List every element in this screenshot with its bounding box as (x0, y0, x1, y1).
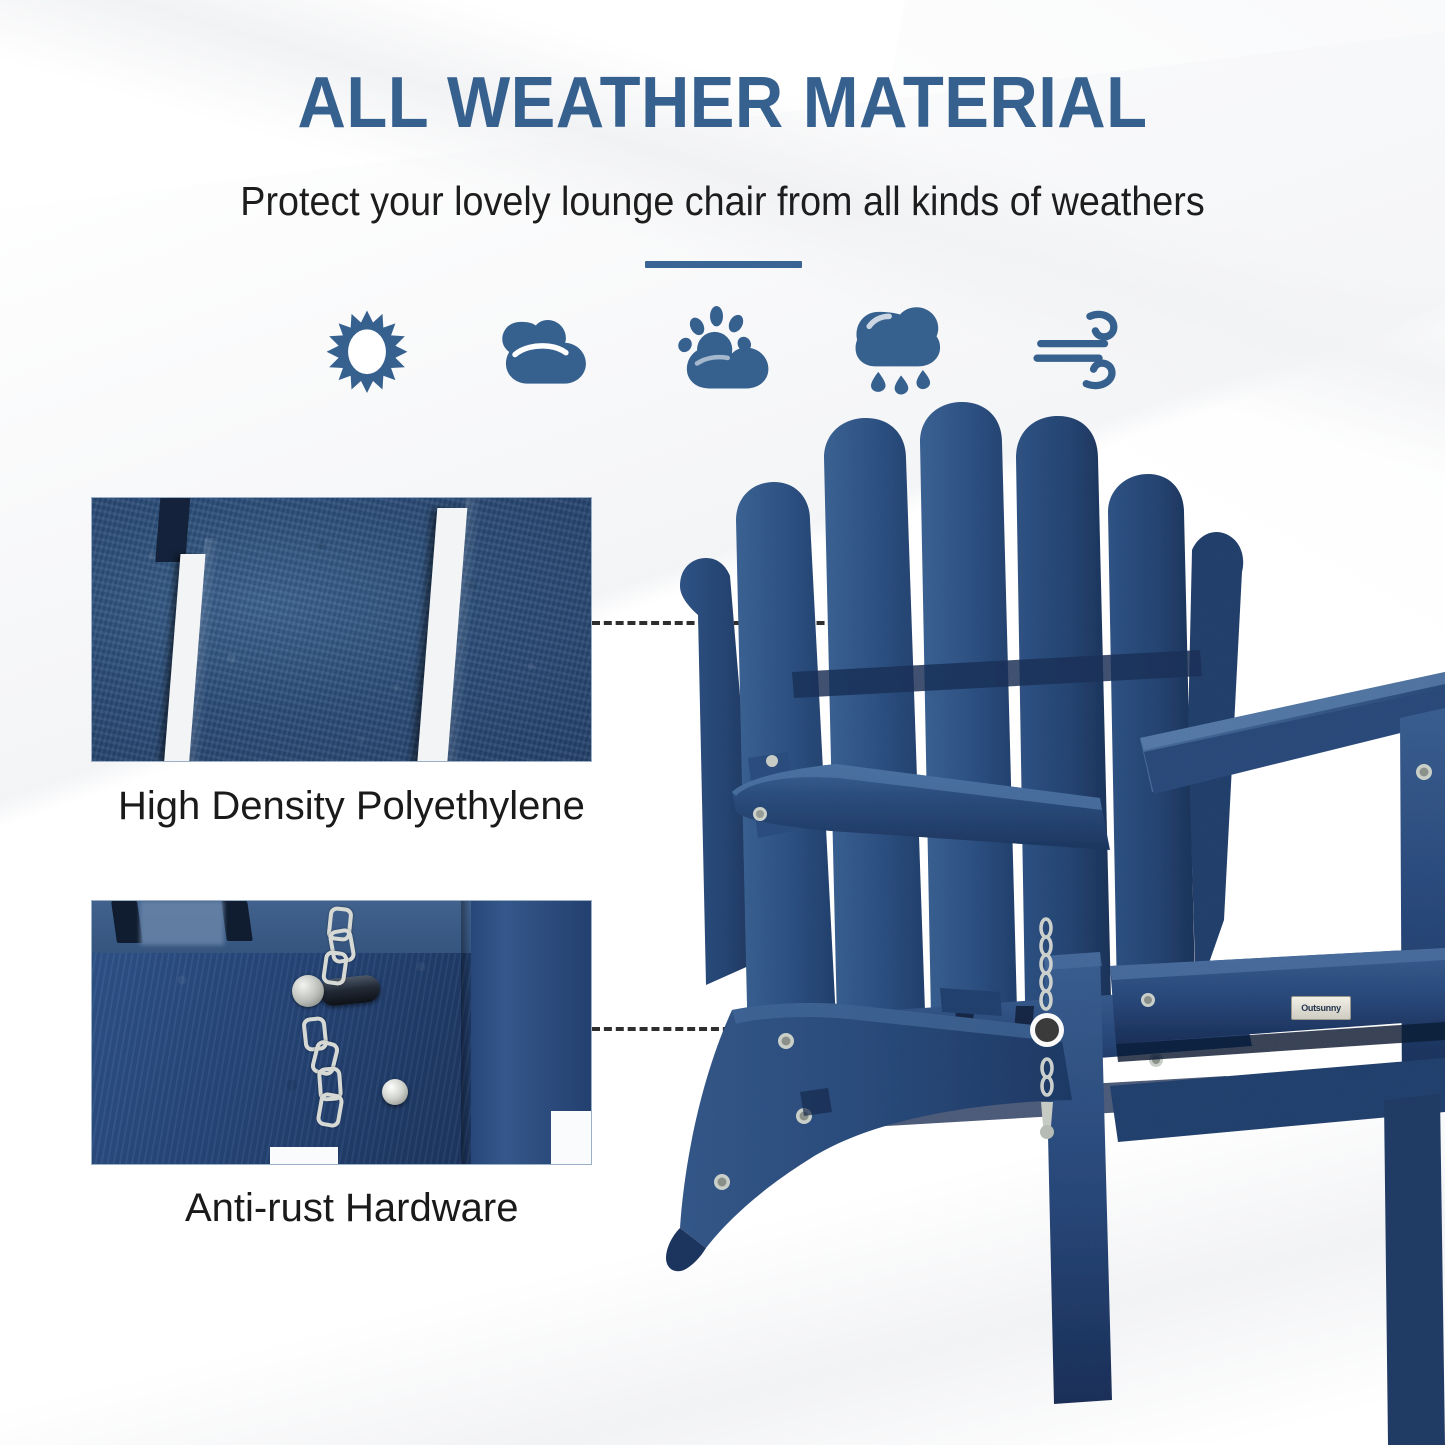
sun-icon (312, 305, 422, 395)
brand-badge: Outsunny (1291, 996, 1351, 1020)
hardware-screw-head (382, 1079, 408, 1105)
hardware-nut (292, 975, 324, 1007)
promo-image-canvas: ALL WEATHER MATERIAL Protect your lovely… (0, 0, 1445, 1445)
hdpe-detail-photo (91, 497, 592, 762)
cloudy-icon (490, 305, 600, 395)
hardware-notch-2 (221, 901, 253, 941)
hardware-caption: Anti-rust Hardware (185, 1186, 518, 1231)
page-title: ALL WEATHER MATERIAL (51, 62, 1395, 144)
partly-sunny-icon (668, 305, 778, 395)
adirondack-chair (640, 400, 1445, 1445)
weather-icon-row (0, 305, 1445, 395)
hardware-blur-highlight (140, 901, 224, 945)
page-subtitle: Protect your lovely lounge chair from al… (58, 178, 1387, 225)
title-divider (645, 261, 802, 268)
hardware-gap-bottom-2 (551, 1111, 591, 1164)
wind-icon (1024, 305, 1134, 395)
hardware-post-shadow (461, 901, 471, 1164)
hardware-gap-bottom-1 (270, 1147, 338, 1164)
hdpe-caption: High Density Polyethylene (118, 784, 585, 829)
rain-cloud-icon (846, 305, 956, 395)
hardware-detail-photo (91, 900, 592, 1165)
hdpe-shadow-gap (155, 497, 191, 562)
